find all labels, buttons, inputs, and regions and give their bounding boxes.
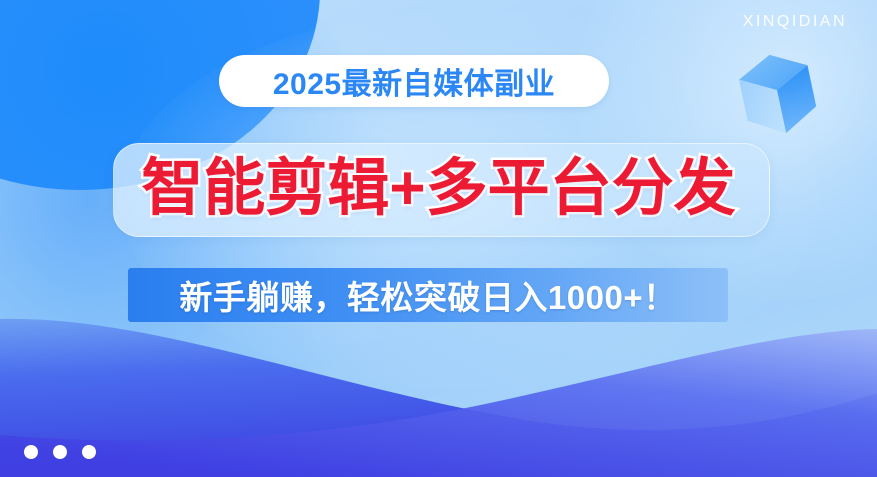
tagline-pill: 2025最新自媒体副业 <box>219 55 609 107</box>
headline-text: 智能剪辑+多平台分发 <box>0 140 877 238</box>
wave-decoration-icon <box>0 297 877 477</box>
dot-2-icon <box>53 445 67 459</box>
cube-3d-icon <box>735 48 821 142</box>
dots-indicator <box>24 445 96 459</box>
tagline-text: 2025最新自媒体副业 <box>273 59 555 103</box>
dot-1-icon <box>24 445 38 459</box>
brand-watermark: XINQIDIAN <box>743 13 847 31</box>
promo-poster: XINQIDIAN 2025最新自媒体副业 智能剪辑+多平台分发 新手躺赚，轻松… <box>0 0 877 477</box>
dot-3-icon <box>82 445 96 459</box>
